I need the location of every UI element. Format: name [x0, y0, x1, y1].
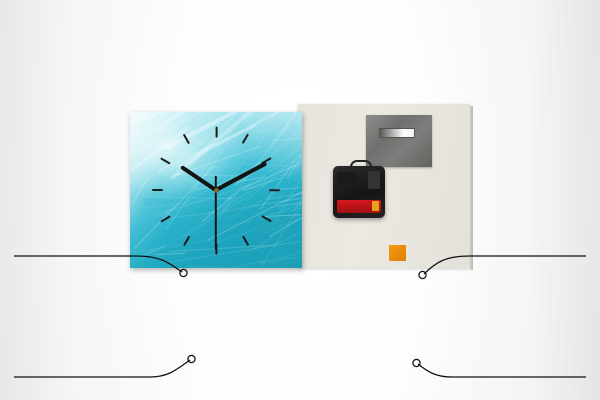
metal-hanger-plate	[366, 115, 432, 167]
mechanism-module-left	[337, 172, 357, 185]
mechanism-hanging-loop	[350, 160, 372, 171]
clock-tick	[215, 126, 217, 137]
clock-mechanism	[333, 166, 385, 218]
battery	[337, 200, 381, 213]
infographic-canvas: GEHARD GLAS Bestand tegen breuk en krass…	[0, 0, 600, 400]
hanger-keyhole-slot	[379, 128, 415, 138]
mechanism-module-right	[368, 171, 380, 189]
foam-spacer	[389, 245, 406, 261]
product-image	[130, 104, 470, 268]
clock-tick	[269, 189, 280, 191]
clock-tick	[152, 189, 163, 191]
clock-face	[130, 112, 302, 268]
clock-center-pin	[214, 188, 219, 193]
